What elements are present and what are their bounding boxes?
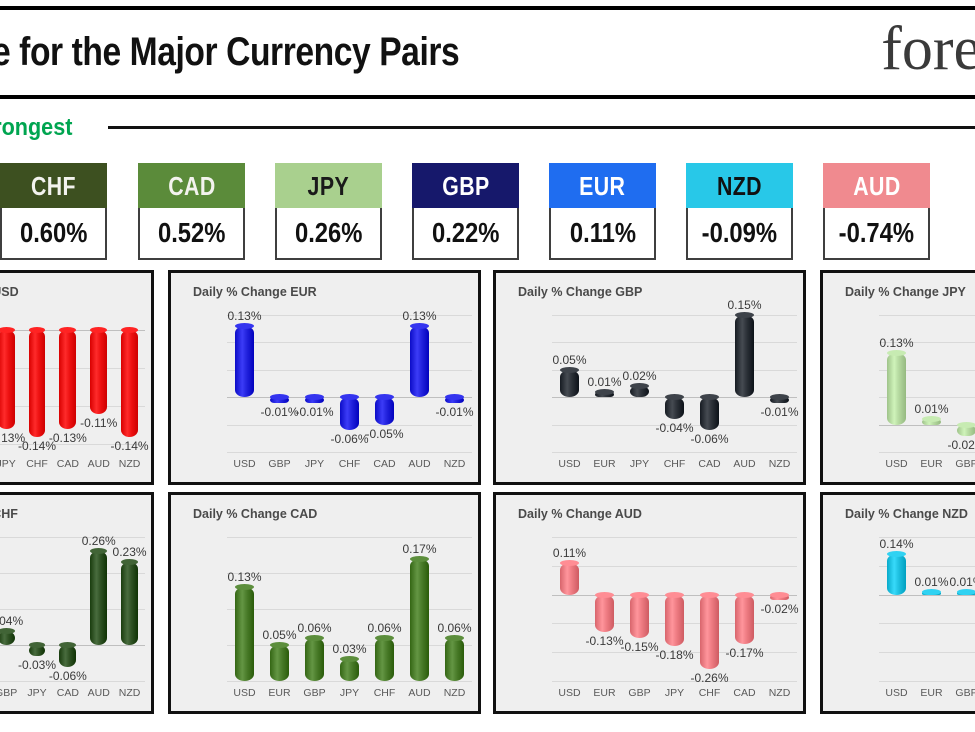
chart-bar-usd-jpy <box>0 330 15 429</box>
chart-bar-eur-cad <box>375 397 394 424</box>
bar-cap <box>922 589 941 595</box>
data-label-cad-usd: 0.13% <box>219 570 271 584</box>
currency-strength-card-cad[interactable]: CAD0.52% <box>138 163 245 263</box>
chart-bar-cad-nzd <box>445 638 464 681</box>
bar-cap <box>700 592 719 598</box>
bar-cap <box>887 551 906 557</box>
chart-bar-eur-chf <box>340 397 359 430</box>
bar-cap <box>270 642 289 648</box>
bar-cap <box>235 323 254 329</box>
currency-change-aud: -0.74% <box>823 208 930 260</box>
brand-logo: fore <box>881 14 975 84</box>
data-label-chf-gbp: 0.04% <box>0 614 32 628</box>
chart-bar-cad-aud <box>410 559 429 681</box>
data-label-eur-aud: 0.13% <box>394 309 446 323</box>
currency-change-cad: 0.52% <box>138 208 245 260</box>
currency-change-jpy: 0.26% <box>275 208 382 260</box>
bar-cap <box>29 642 46 648</box>
bar-cap <box>770 394 789 400</box>
bar-cap <box>665 394 684 400</box>
chart-gridline <box>879 623 975 624</box>
data-label-jpy-gbp: -0.02% <box>941 438 975 452</box>
data-label-gbp-jpy: 0.02% <box>614 369 666 383</box>
bar-cap <box>445 635 464 641</box>
chart-gridline <box>552 566 797 567</box>
bar-cap <box>887 350 906 356</box>
bar-cap <box>922 416 941 422</box>
chart-bar-nzd-gbp <box>957 592 975 595</box>
plot-area-usd: -0.13%-0.05%-0.13%-0.14%-0.13%-0.11%-0.1… <box>0 315 145 452</box>
data-label-usd-aud: -0.11% <box>73 416 125 430</box>
chart-bar-gbp-aud <box>735 315 754 397</box>
currency-change-chf: 0.60% <box>0 208 107 260</box>
chart-bar-chf-aud <box>90 551 107 645</box>
data-label-aud-nzd: -0.02% <box>754 602 806 616</box>
chart-bar-gbp-eur <box>595 392 614 397</box>
data-label-eur-usd: 0.13% <box>219 309 271 323</box>
chart-gridline <box>552 452 797 453</box>
chart-bar-aud-chf <box>700 595 719 670</box>
chart-bar-nzd-eur <box>922 592 941 595</box>
x-axis-tick: NZD <box>108 458 152 470</box>
data-label-gbp-nzd: -0.01% <box>754 405 806 419</box>
chart-bar-eur-usd <box>235 326 254 397</box>
chart-bar-aud-usd <box>560 563 579 595</box>
chart-bar-gbp-nzd <box>770 397 789 402</box>
data-label-cad-chf: 0.06% <box>359 621 411 635</box>
x-axis-tick: NZD <box>758 687 802 699</box>
plot-area-cad: 0.13%0.05%0.06%0.03%0.06%0.17%0.06% <box>227 537 472 681</box>
x-axis-tick: GBP <box>945 687 975 699</box>
chart-title-chf: Daily % Change CHF <box>0 507 18 521</box>
chart-bar-chf-cad <box>59 645 76 667</box>
plot-area-jpy: 0.13%0.01%-0.02%-0.05%-0.03%0.18%0.02% <box>879 315 975 452</box>
chart-bar-gbp-usd <box>560 370 579 397</box>
chart-panel-cad: Daily % Change CAD0.13%0.05%0.06%0.03%0.… <box>168 492 481 714</box>
data-label-jpy-eur: 0.01% <box>906 402 958 416</box>
plot-area-gbp: 0.05%0.01%0.02%-0.04%-0.06%0.15%-0.01% <box>552 315 797 452</box>
bar-cap <box>700 394 719 400</box>
header-rule-top <box>0 6 975 10</box>
data-label-gbp-aud: 0.15% <box>719 298 771 312</box>
bar-cap <box>121 559 138 565</box>
chart-title-gbp: Daily % Change GBP <box>518 285 642 299</box>
bar-cap <box>340 656 359 662</box>
bar-cap <box>770 592 789 598</box>
bar-cap <box>630 592 649 598</box>
chart-bar-cad-gbp <box>305 638 324 681</box>
data-label-aud-cad: -0.17% <box>719 646 771 660</box>
chart-bar-usd-nzd <box>121 330 138 437</box>
chart-bar-aud-eur <box>595 595 614 632</box>
currency-change-eur: 0.11% <box>549 208 656 260</box>
chart-gridline <box>227 537 472 538</box>
zero-axis <box>879 595 975 596</box>
chart-bar-usd-cad <box>59 330 76 429</box>
chart-gridline <box>227 681 472 682</box>
currency-code-aud: AUD <box>823 163 930 208</box>
strongest-label: trongest <box>0 114 72 142</box>
x-axis-tick: NZD <box>433 458 477 470</box>
chart-gridline <box>552 315 797 316</box>
bar-cap <box>595 592 614 598</box>
chart-title-aud: Daily % Change AUD <box>518 507 642 521</box>
chart-gridline <box>227 342 472 343</box>
currency-code-eur: EUR <box>549 163 656 208</box>
chart-bar-cad-usd <box>235 587 254 681</box>
currency-code-chf: CHF <box>0 163 107 208</box>
chart-bar-jpy-gbp <box>957 425 975 436</box>
chart-bar-cad-chf <box>375 638 394 681</box>
bar-cap <box>59 642 76 648</box>
data-label-jpy-usd: 0.13% <box>871 336 923 350</box>
currency-change-nzd: -0.09% <box>686 208 793 260</box>
data-label-cad-jpy: 0.03% <box>324 642 376 656</box>
chart-gridline <box>227 370 472 371</box>
bar-cap <box>305 635 324 641</box>
data-label-chf-nzd: 0.23% <box>104 545 154 559</box>
currency-strength-card-nzd[interactable]: NZD-0.09% <box>686 163 793 263</box>
data-label-cad-aud: 0.17% <box>394 542 446 556</box>
data-label-aud-jpy: -0.18% <box>649 648 701 662</box>
chart-bar-cad-jpy <box>340 659 359 681</box>
data-label-eur-jpy: -0.01% <box>289 405 341 419</box>
chart-panel-chf: Daily % Change CHF0.14%0.06%0.04%-0.03%-… <box>0 492 154 714</box>
currency-strength-card-gbp[interactable]: GBP0.22% <box>412 163 519 263</box>
chart-gridline <box>227 452 472 453</box>
bar-cap <box>340 394 359 400</box>
data-label-gbp-cad: -0.06% <box>684 432 736 446</box>
data-label-aud-chf: -0.26% <box>684 671 736 685</box>
chart-gridline <box>879 452 975 453</box>
bar-cap <box>957 589 975 595</box>
bar-cap <box>305 394 324 400</box>
chart-panel-jpy: Daily % Change JPY0.13%0.01%-0.02%-0.05%… <box>820 270 975 485</box>
chart-title-eur: Daily % Change EUR <box>193 285 317 299</box>
chart-gridline <box>879 652 975 653</box>
chart-gridline <box>879 681 975 682</box>
data-label-cad-gbp: 0.06% <box>289 621 341 635</box>
currency-strength-card-aud[interactable]: AUD-0.74% <box>823 163 930 263</box>
chart-bar-chf-gbp <box>0 631 15 645</box>
bar-cap <box>90 327 107 333</box>
bar-cap <box>560 367 579 373</box>
bar-cap <box>735 592 754 598</box>
currency-change-gbp: 0.22% <box>412 208 519 260</box>
chart-bar-cad-eur <box>270 645 289 681</box>
chart-title-nzd: Daily % Change NZD <box>845 507 968 521</box>
bar-cap <box>410 323 429 329</box>
chart-gridline <box>552 342 797 343</box>
currency-strength-card-eur[interactable]: EUR0.11% <box>549 163 656 263</box>
chart-bar-gbp-jpy <box>630 386 649 397</box>
chart-bar-eur-aud <box>410 326 429 397</box>
data-label-nzd-usd: 0.14% <box>871 537 923 551</box>
chart-panel-usd: Daily % Change USD-0.13%-0.05%-0.13%-0.1… <box>0 270 154 485</box>
x-axis-tick: GBP <box>945 458 975 470</box>
chart-bar-aud-gbp <box>630 595 649 638</box>
chart-bar-chf-nzd <box>121 562 138 645</box>
chart-gridline <box>227 609 472 610</box>
chart-bar-usd-aud <box>90 330 107 414</box>
bar-cap <box>270 394 289 400</box>
bar-cap <box>29 327 46 333</box>
chart-bar-aud-jpy <box>665 595 684 647</box>
header-rule-bottom <box>0 95 975 99</box>
x-axis-tick: NZD <box>758 458 802 470</box>
bar-cap <box>410 556 429 562</box>
chart-title-usd: Daily % Change USD <box>0 285 19 299</box>
data-label-eur-nzd: -0.01% <box>429 405 481 419</box>
chart-bar-chf-jpy <box>29 645 46 656</box>
plot-area-eur: 0.13%-0.01%-0.01%-0.06%-0.05%0.13%-0.01% <box>227 315 472 452</box>
bar-cap <box>735 312 754 318</box>
bar-cap <box>59 327 76 333</box>
bar-cap <box>445 394 464 400</box>
bar-cap <box>560 560 579 566</box>
currency-code-cad: CAD <box>138 163 245 208</box>
x-axis-tick: NZD <box>108 687 152 699</box>
data-label-usd-cad: -0.13% <box>42 431 94 445</box>
chart-panel-gbp: Daily % Change GBP0.05%0.01%0.02%-0.04%-… <box>493 270 806 485</box>
bar-cap <box>630 383 649 389</box>
chart-gridline <box>879 315 975 316</box>
bar-cap <box>595 389 614 395</box>
data-label-usd-nzd: -0.14% <box>104 439 154 453</box>
bar-cap <box>665 592 684 598</box>
chart-bar-aud-nzd <box>770 595 789 601</box>
x-axis-tick: NZD <box>433 687 477 699</box>
bar-cap <box>957 422 975 428</box>
subhead-rule <box>108 126 975 129</box>
bar-cap <box>0 327 15 333</box>
chart-bar-aud-cad <box>735 595 754 644</box>
plot-area-nzd: 0.14%0.01%0.01%-0.02%-0.23%0.06%0.02% <box>879 537 975 681</box>
chart-bar-gbp-chf <box>665 397 684 419</box>
chart-panel-aud: Daily % Change AUD0.11%-0.13%-0.15%-0.18… <box>493 492 806 714</box>
currency-strength-card-chf[interactable]: CHF0.60% <box>0 163 107 263</box>
bar-cap <box>375 635 394 641</box>
data-label-eur-cad: -0.05% <box>359 427 411 441</box>
data-label-aud-usd: 0.11% <box>544 546 596 560</box>
bar-cap <box>121 327 138 333</box>
plot-area-aud: 0.11%-0.13%-0.15%-0.18%-0.26%-0.17%-0.02… <box>552 537 797 681</box>
plot-area-chf: 0.14%0.06%0.04%-0.03%-0.06%0.26%0.23% <box>0 537 145 681</box>
chart-gridline <box>552 537 797 538</box>
chart-title-jpy: Daily % Change JPY <box>845 285 966 299</box>
data-label-nzd-gbp: 0.01% <box>941 575 975 589</box>
data-label-gbp-usd: 0.05% <box>544 353 596 367</box>
chart-panel-nzd: Daily % Change NZD0.14%0.01%0.01%-0.02%-… <box>820 492 975 714</box>
currency-code-gbp: GBP <box>412 163 519 208</box>
bar-cap <box>0 628 15 634</box>
currency-code-jpy: JPY <box>275 163 382 208</box>
chart-panel-eur: Daily % Change EUR0.13%-0.01%-0.01%-0.06… <box>168 270 481 485</box>
data-label-cad-nzd: 0.06% <box>429 621 481 635</box>
chart-bar-eur-jpy <box>305 397 324 402</box>
data-label-chf-cad: -0.06% <box>42 669 94 683</box>
chart-bar-usd-chf <box>29 330 46 437</box>
chart-bar-jpy-eur <box>922 419 941 424</box>
chart-bar-gbp-cad <box>700 397 719 430</box>
chart-bar-eur-nzd <box>445 397 464 402</box>
chart-bar-nzd-usd <box>887 554 906 594</box>
page-title: e for the Major Currency Pairs <box>0 26 496 78</box>
chart-gridline <box>552 370 797 371</box>
chart-title-cad: Daily % Change CAD <box>193 507 317 521</box>
chart-gridline <box>552 681 797 682</box>
bar-cap <box>235 584 254 590</box>
chart-bar-eur-gbp <box>270 397 289 402</box>
currency-strength-ranking: CHF0.60%CAD0.52%JPY0.26%GBP0.22%EUR0.11%… <box>0 163 975 263</box>
chart-bar-jpy-usd <box>887 353 906 424</box>
currency-strength-card-jpy[interactable]: JPY0.26% <box>275 163 382 263</box>
currency-code-nzd: NZD <box>686 163 793 208</box>
bar-cap <box>375 394 394 400</box>
